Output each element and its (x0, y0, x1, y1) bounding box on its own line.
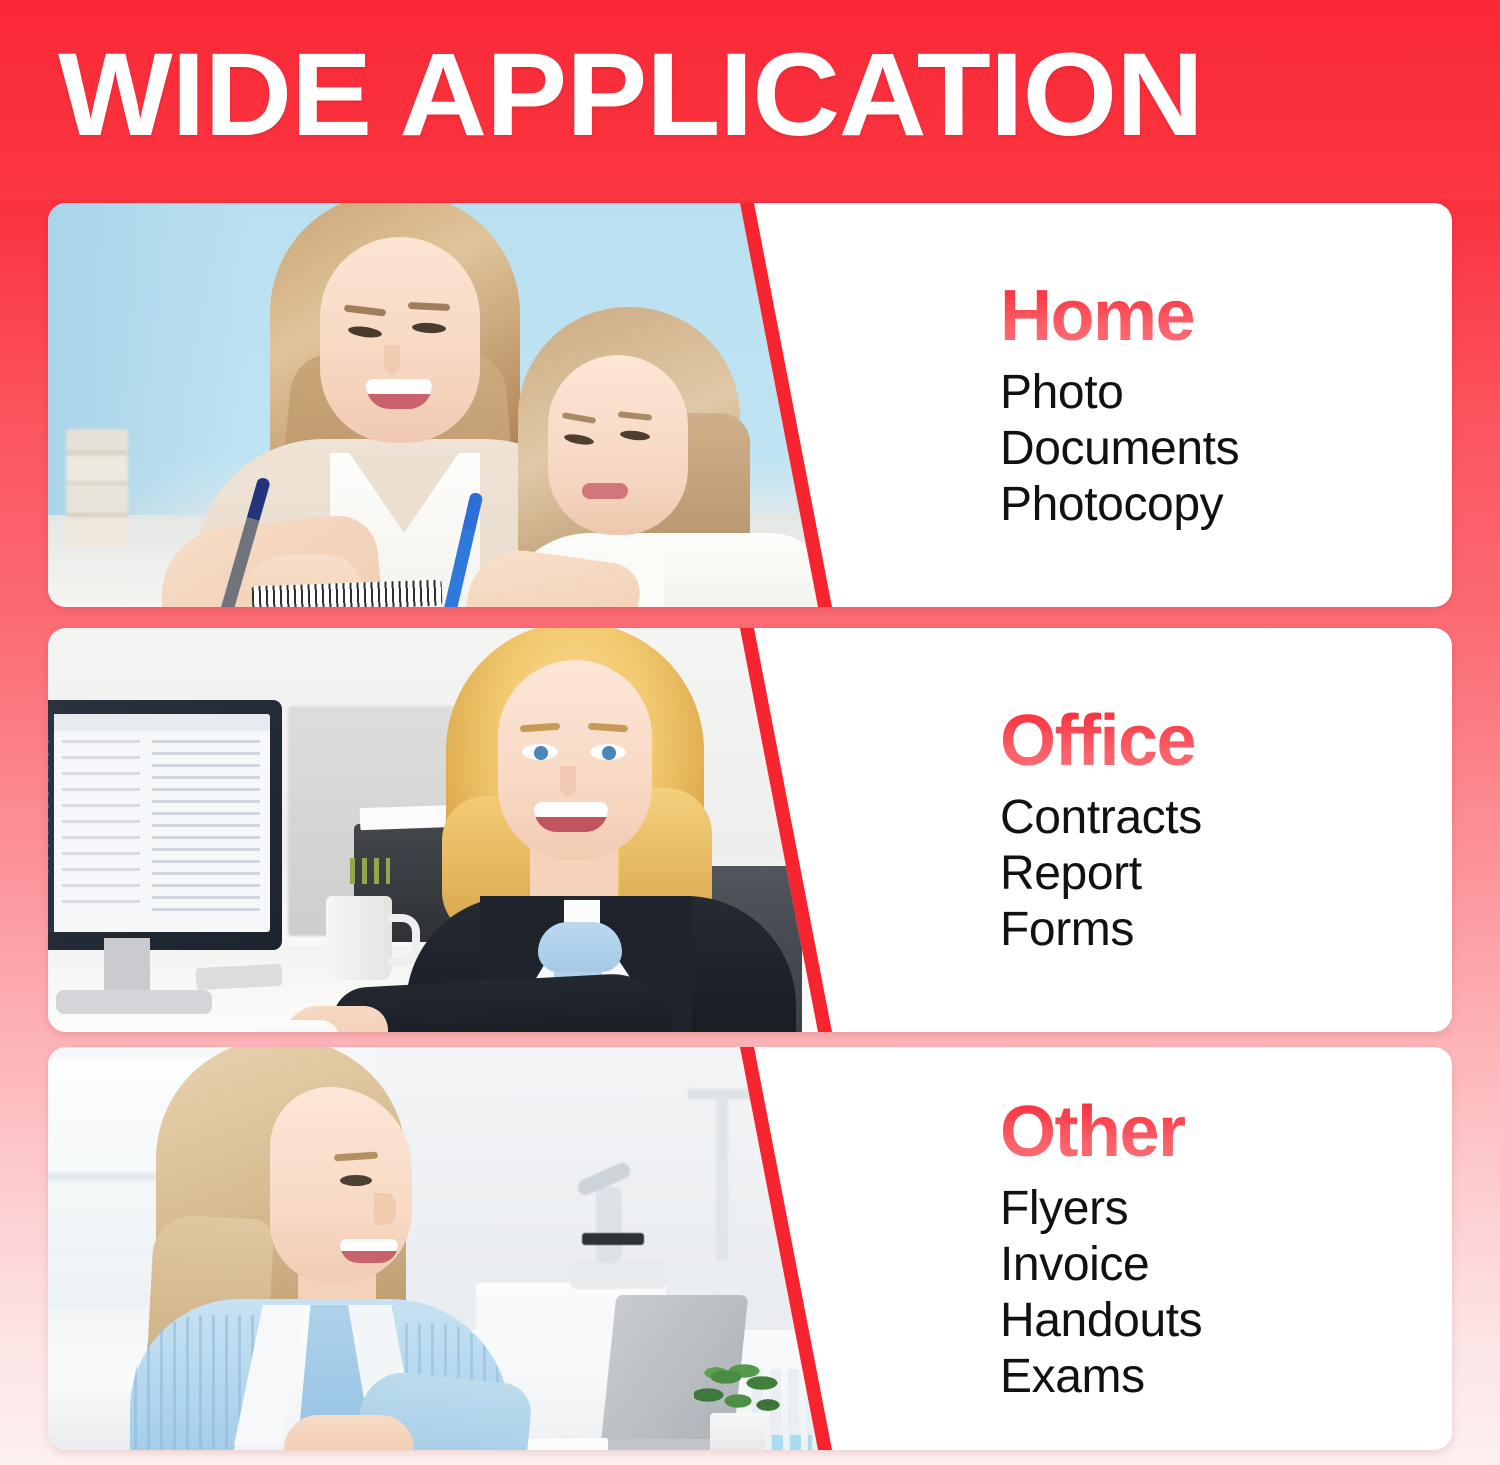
mug-handle (388, 914, 420, 966)
list-item: Flyers (1000, 1181, 1452, 1237)
girl-face (548, 355, 688, 535)
pencil-cup-contents (350, 858, 390, 884)
monitor-stand-neck (104, 938, 150, 998)
woman-eye (340, 1175, 372, 1186)
application-card-other: Other Flyers Invoice Handouts Exams (48, 1047, 1452, 1450)
card-heading-home: Home (1000, 277, 1194, 355)
card-list-other: Flyers Invoice Handouts Exams (1000, 1181, 1452, 1405)
list-item: Handouts (1000, 1293, 1452, 1349)
woman-teeth (366, 379, 432, 394)
list-item: Contracts (1000, 790, 1452, 846)
card-list-home: Photo Documents Photocopy (1000, 365, 1452, 533)
woman-iris-right (602, 746, 616, 760)
list-item: Forms (1000, 902, 1452, 958)
list-item: Photocopy (1000, 477, 1452, 533)
card-text-home: Home Photo Documents Photocopy (878, 203, 1452, 607)
card-text-office: Office Contracts Report Forms (878, 628, 1452, 1032)
woman-teeth (534, 802, 608, 817)
chair-back (48, 1377, 138, 1450)
monitor-stand-base (56, 990, 212, 1014)
card-heading-other: Other (1000, 1093, 1185, 1171)
card-text-other: Other Flyers Invoice Handouts Exams (878, 1047, 1452, 1450)
screen-text-column-left (62, 740, 140, 914)
bow-tie (538, 922, 622, 972)
card-list-office: Contracts Report Forms (1000, 790, 1452, 958)
application-card-home: Home Photo Documents Photocopy (48, 203, 1452, 607)
shelf-post (716, 1091, 728, 1261)
page-title: WIDE APPLICATION (58, 36, 1203, 154)
book-stack (66, 429, 128, 547)
list-item: Documents (1000, 421, 1452, 477)
infographic-page: WIDE APPLICATION (0, 0, 1500, 1465)
list-item: Exams (1000, 1349, 1452, 1405)
list-item: Report (1000, 846, 1452, 902)
monitor-screen (48, 714, 270, 932)
microscope-base (570, 1259, 666, 1289)
woman-clasped-hands (284, 1415, 414, 1450)
coffee-mug (326, 896, 392, 980)
smartphone-on-desk (195, 964, 282, 990)
woman-nose (560, 766, 576, 796)
woman-nose (384, 345, 400, 373)
application-card-office: Office Contracts Report Forms (48, 628, 1452, 1032)
shelf (688, 1089, 756, 1099)
screen-text-column-right (152, 740, 260, 914)
computer-mouse (254, 1020, 340, 1032)
list-item: Photo (1000, 365, 1452, 421)
woman-face (320, 237, 480, 443)
woman-smile (534, 802, 608, 832)
screen-sidebar-rows (48, 740, 49, 880)
woman-iris-left (534, 746, 548, 760)
microscope-stage (582, 1233, 644, 1245)
microscope-arm (596, 1187, 622, 1263)
screen-toolbar (54, 714, 270, 731)
list-item: Invoice (1000, 1237, 1452, 1293)
girl-mouth (582, 483, 628, 499)
woman-nose (374, 1193, 396, 1225)
woman-teeth (340, 1239, 398, 1251)
woman-smile (366, 379, 432, 409)
woman-smile (340, 1239, 398, 1263)
plant-leaves (694, 1361, 784, 1421)
card-heading-office: Office (1000, 702, 1195, 780)
